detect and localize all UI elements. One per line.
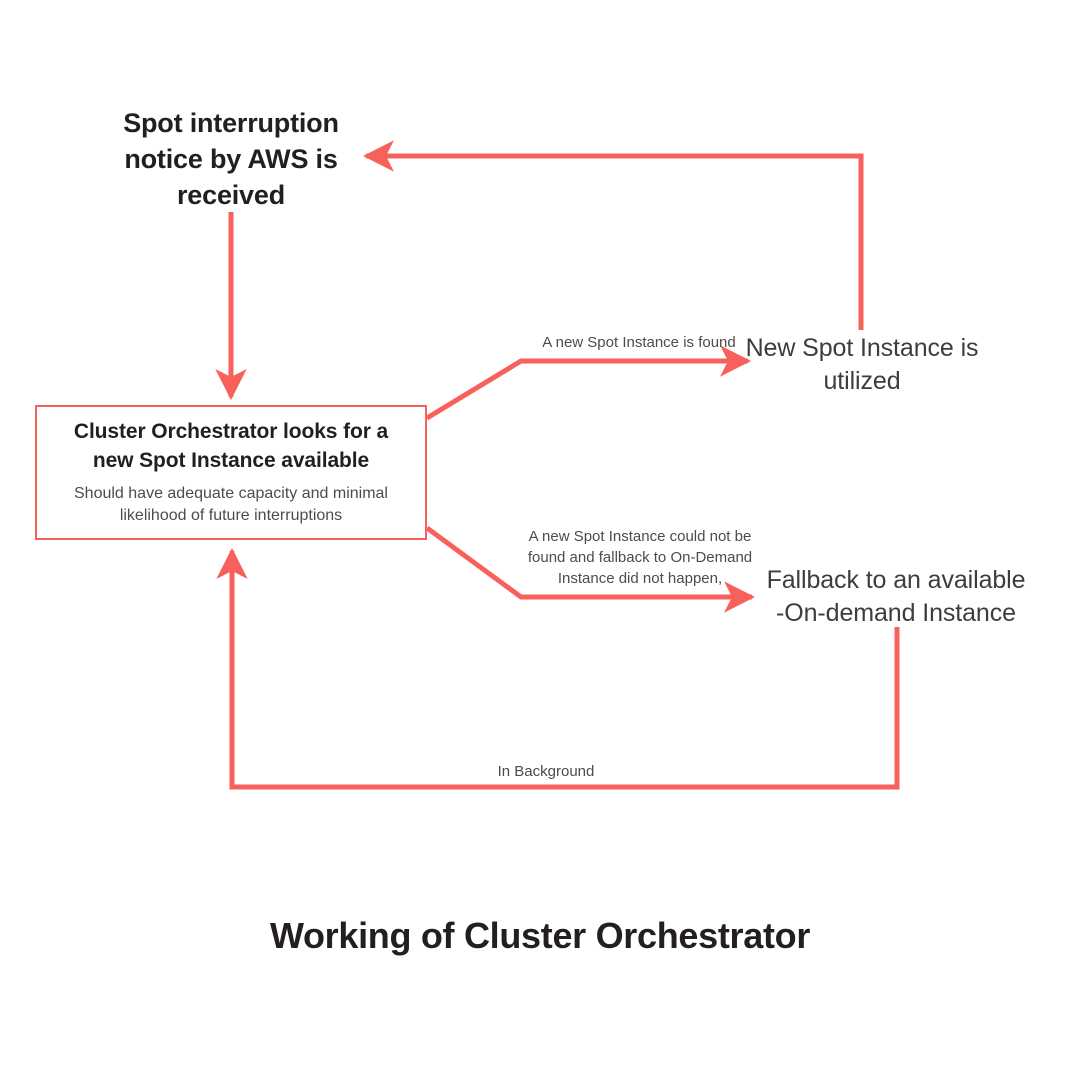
edge-label-spot-instance-not-found: A new Spot Instance could not be found a… (508, 526, 772, 589)
orchestrator-title: Cluster Orchestrator looks for a new Spo… (51, 417, 411, 475)
connector-orchestrator-to-utilized (427, 361, 748, 418)
edge-label-spot-instance-found: A new Spot Instance is found (516, 332, 762, 353)
node-fallback-on-demand-instance: Fallback to an available -On-demand Inst… (764, 564, 1028, 630)
node-cluster-orchestrator: Cluster Orchestrator looks for a new Spo… (35, 405, 427, 540)
connector-utilized-to-interruption (366, 156, 861, 330)
diagram-title: Working of Cluster Orchestrator (0, 915, 1080, 957)
node-spot-interruption-notice: Spot interruption notice by AWS is recei… (104, 105, 358, 213)
orchestrator-subtitle: Should have adequate capacity and minima… (51, 483, 411, 527)
diagram-canvas: Spot interruption notice by AWS is recei… (0, 0, 1080, 1080)
edge-label-in-background: In Background (466, 761, 626, 782)
node-new-spot-instance-utilized: New Spot Instance is utilized (742, 332, 982, 398)
